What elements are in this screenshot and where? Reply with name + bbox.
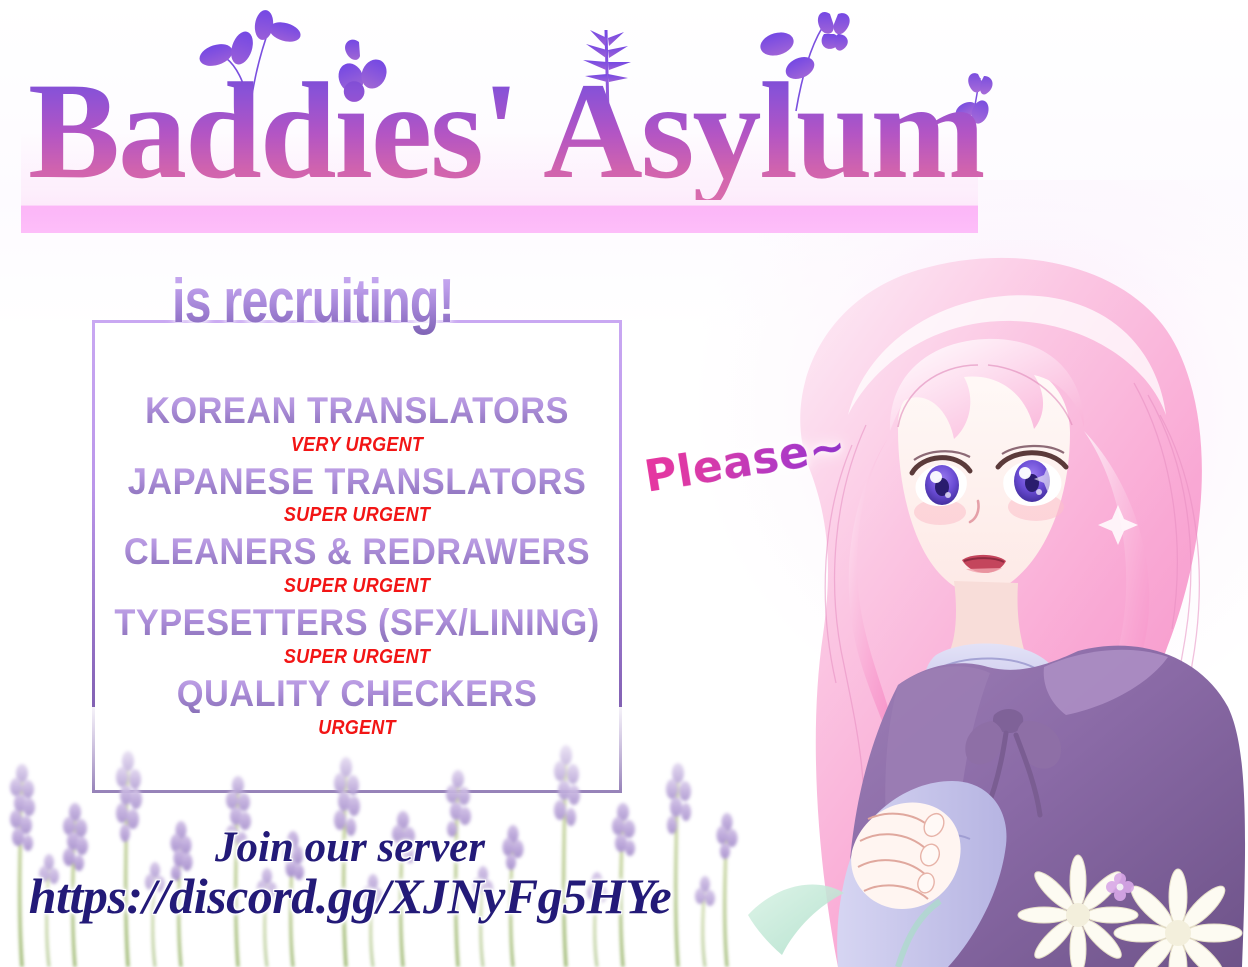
role-urgency-badge: SUPER URGENT <box>119 642 596 672</box>
role-item: KOREAN TRANSLATORS VERY URGENT <box>92 392 622 460</box>
poster-title: Baddies' Asylum <box>28 62 1008 200</box>
poster-title-wrapper: Baddies' Asylum <box>28 62 1008 212</box>
discord-invite-link[interactable]: https://discord.gg/XJNyFg5HYe <box>0 869 700 923</box>
role-title: KOREAN TRANSLATORS <box>111 392 604 430</box>
join-server-label: Join our server <box>0 826 700 869</box>
role-title: QUALITY CHECKERS <box>111 675 604 713</box>
role-urgency-badge: URGENT <box>119 713 596 743</box>
roles-list: KOREAN TRANSLATORS VERY URGENT JAPANESE … <box>92 392 622 746</box>
role-title: JAPANESE TRANSLATORS <box>111 463 604 501</box>
role-urgency-badge: SUPER URGENT <box>119 500 596 530</box>
role-title: CLEANERS & REDRAWERS <box>111 533 604 571</box>
recruiting-subtitle: is recruiting! <box>172 266 454 337</box>
anime-girl-illustration <box>748 215 1248 967</box>
role-item: CLEANERS & REDRAWERS SUPER URGENT <box>92 533 622 601</box>
role-item: QUALITY CHECKERS URGENT <box>92 675 622 743</box>
role-urgency-badge: VERY URGENT <box>119 430 596 460</box>
recruitment-poster: Baddies' Asylum <box>0 0 1248 967</box>
role-title: TYPESETTERS (SFX/LINING) <box>111 604 604 642</box>
role-item: JAPANESE TRANSLATORS SUPER URGENT <box>92 463 622 531</box>
role-item: TYPESETTERS (SFX/LINING) SUPER URGENT <box>92 604 622 672</box>
role-urgency-badge: SUPER URGENT <box>119 571 596 601</box>
discord-footer: Join our server https://discord.gg/XJNyF… <box>0 826 700 923</box>
